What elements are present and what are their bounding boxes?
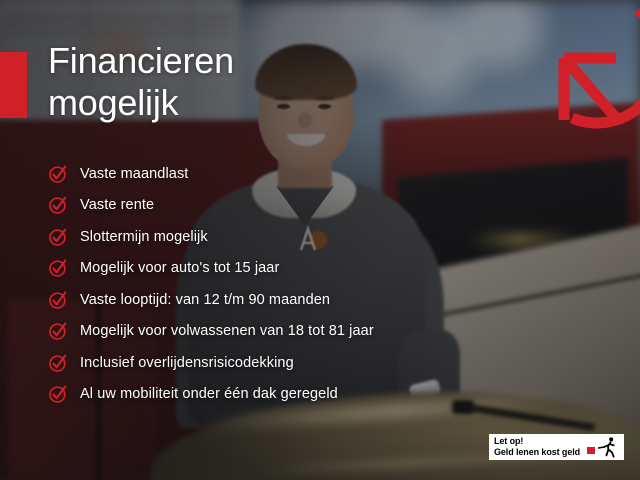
list-item: Slottermijn mogelijk xyxy=(48,221,608,253)
check-circle-icon xyxy=(48,227,68,247)
check-circle-icon xyxy=(48,195,68,215)
feature-label: Inclusief overlijdensrisicodekking xyxy=(80,354,294,372)
feature-label: Mogelijk voor volwassenen van 18 tot 81 … xyxy=(80,322,374,340)
list-item: Al uw mobiliteit onder één dak geregeld xyxy=(48,379,608,411)
list-item: Inclusief overlijdensrisicodekking xyxy=(48,347,608,379)
feature-list: Vaste maandlast Vaste rente Slottermijn … xyxy=(48,158,608,410)
check-circle-icon xyxy=(48,384,68,404)
feature-label: Al uw mobiliteit onder één dak geregeld xyxy=(80,385,338,403)
debt-ball-icon xyxy=(587,447,595,454)
red-circular-arrow-icon xyxy=(554,0,640,130)
list-item: Mogelijk voor volwassenen van 18 tot 81 … xyxy=(48,316,608,348)
check-circle-icon xyxy=(48,290,68,310)
feature-label: Vaste rente xyxy=(80,196,154,214)
list-item: Vaste looptijd: van 12 t/m 90 maanden xyxy=(48,284,608,316)
feature-label: Slottermijn mogelijk xyxy=(80,228,208,246)
page-title: Financieren mogelijk xyxy=(48,40,378,124)
check-circle-icon xyxy=(48,258,68,278)
list-item: Vaste rente xyxy=(48,190,608,222)
feature-label: Mogelijk voor auto's tot 15 jaar xyxy=(80,259,279,277)
feature-label: Vaste looptijd: van 12 t/m 90 maanden xyxy=(80,291,330,309)
status-badge: Let op! Geld lenen kost geld xyxy=(489,434,624,460)
list-item: Mogelijk voor auto's tot 15 jaar xyxy=(48,253,608,285)
check-circle-icon xyxy=(48,321,68,341)
check-circle-icon xyxy=(48,353,68,373)
check-circle-icon xyxy=(48,164,68,184)
running-man-icon xyxy=(597,436,619,458)
feature-label: Vaste maandlast xyxy=(80,165,188,183)
warning-text: Let op! Geld lenen kost geld xyxy=(494,436,586,458)
financing-promo-banner: Financieren mogelijk Vaste maandlast Vas… xyxy=(0,0,640,480)
list-item: Vaste maandlast xyxy=(48,158,608,190)
red-block-accent xyxy=(0,52,27,118)
